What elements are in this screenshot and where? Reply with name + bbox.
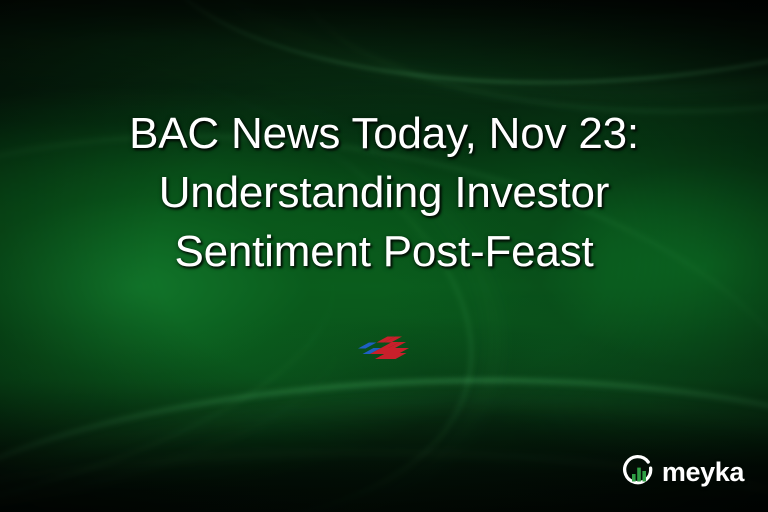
bank-of-america-flagscape-icon (356, 332, 412, 362)
news-card: BAC News Today, Nov 23: Understanding In… (0, 0, 768, 512)
meyka-wordmark: meyka (662, 459, 744, 486)
headline-line-1: BAC News Today, Nov 23: (28, 104, 740, 163)
light-streak-top (142, 0, 768, 105)
light-streak-bottom-glow (0, 378, 768, 512)
light-streak-top-glow (191, 0, 768, 119)
meyka-circle-bars-icon (621, 454, 657, 490)
light-streak-upper-right (298, 0, 768, 119)
headline-line-2: Understanding Investor (28, 163, 740, 222)
headline-line-3: Sentiment Post-Feast (28, 222, 740, 281)
page-title: BAC News Today, Nov 23: Understanding In… (0, 104, 768, 281)
meyka-watermark: meyka (621, 454, 744, 490)
